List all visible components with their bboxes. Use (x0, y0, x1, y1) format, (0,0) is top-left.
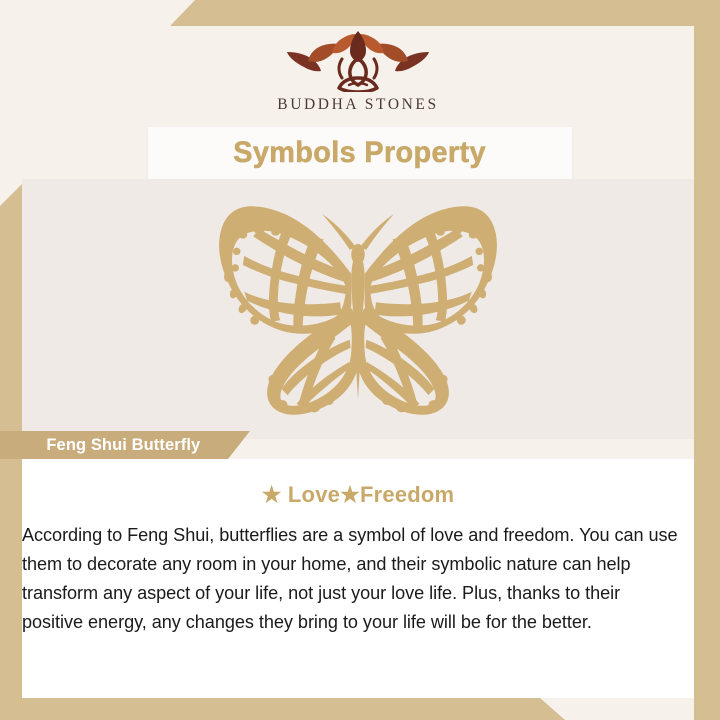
feng-shui-butterfly-tag: Feng Shui Butterfly (0, 431, 250, 459)
page-title: Symbols Property (234, 136, 487, 170)
butterfly-icon (193, 196, 523, 428)
section-heading: ★ Love★Freedom (22, 482, 694, 508)
title-banner: Symbols Property (148, 127, 572, 179)
lotus-meditation-icon (283, 30, 433, 92)
brand-name: BUDDHA STONES (277, 96, 438, 114)
frame-top-band (0, 0, 720, 26)
product-info-graphic: BUDDHA STONES Symbols Property (0, 0, 720, 720)
illustration-panel (22, 179, 694, 439)
brand-logo-block: BUDDHA STONES (22, 26, 694, 128)
description-text: According to Feng Shui, butterflies are … (22, 520, 684, 636)
frame-bottom-band (0, 698, 720, 720)
frame-right-band (694, 0, 720, 720)
tag-label: Feng Shui Butterfly (46, 435, 200, 455)
content-card: BUDDHA STONES Symbols Property (22, 26, 694, 698)
description-panel: ★ Love★Freedom According to Feng Shui, b… (22, 459, 694, 698)
frame-left-band (0, 0, 22, 720)
